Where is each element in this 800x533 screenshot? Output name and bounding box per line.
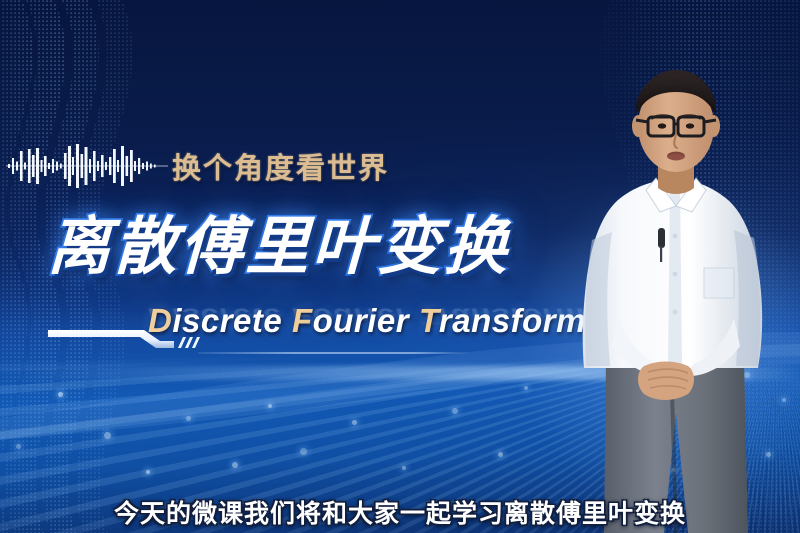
- page-title: 离散傅里叶变换: [47, 216, 511, 279]
- angled-accent-bar-icon: [48, 326, 204, 356]
- presenter-head: [632, 70, 720, 172]
- audio-waveform-icon: [6, 141, 168, 191]
- video-slide: 换个角度看世界 离散傅里叶变换 Discrete Fourier Transfo…: [0, 0, 800, 533]
- presenter-figure: [548, 60, 800, 533]
- reflection-rest-fourier: ourier: [313, 303, 410, 330]
- slide-kicker: 换个角度看世界: [172, 145, 389, 187]
- reflection-cap-t: T: [419, 303, 439, 330]
- title-underline: [198, 352, 468, 354]
- video-caption: 今天的微课我们将和大家一起学习离散傅里叶变换: [0, 494, 800, 530]
- english-subtitle-reflection: Discrete Fourier Transform: [148, 303, 586, 330]
- reflection-cap-f: F: [292, 303, 313, 330]
